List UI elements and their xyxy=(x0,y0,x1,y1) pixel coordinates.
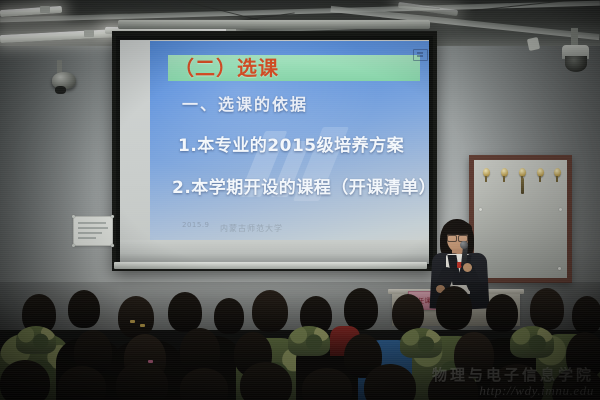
screen-surface: （二）选课 一、选课的依据 1.本专业的2015级培养方案 2.本学期开设的课程… xyxy=(120,40,429,264)
audience-head xyxy=(118,296,154,338)
hair-clip xyxy=(140,324,145,327)
slide-subtitle: 一、选课的依据 xyxy=(182,91,308,115)
audience-head xyxy=(240,362,292,400)
camouflage-cap xyxy=(288,326,330,356)
projected-slide: （二）选课 一、选课的依据 1.本专业的2015级培养方案 2.本学期开设的课程… xyxy=(150,41,429,241)
audience-head xyxy=(530,288,564,330)
audience-head xyxy=(214,298,244,334)
slide-bullet: 1.本专业的2015级培养方案 xyxy=(178,131,404,156)
camouflage-cap xyxy=(16,326,56,354)
slide-image-placeholder-icon xyxy=(413,49,428,61)
light-bracket xyxy=(40,6,50,13)
wall-notice xyxy=(73,216,113,246)
screen-unlit-area xyxy=(120,240,429,264)
glasses-icon xyxy=(447,234,468,240)
slide-bullet: 2.本学期开设的课程（开课清单） xyxy=(172,173,429,198)
audience-head xyxy=(486,294,518,332)
audience-head xyxy=(180,328,220,374)
dome-camera-lens-icon xyxy=(565,56,587,72)
camouflage-cap xyxy=(400,328,442,358)
audience-head xyxy=(436,286,472,330)
audience-head xyxy=(252,290,288,332)
presenter-hand xyxy=(463,263,472,272)
audience-head xyxy=(392,294,424,332)
camera-lens-icon xyxy=(55,86,66,94)
screen-bottom-bar xyxy=(114,262,427,269)
audience-head xyxy=(344,288,378,330)
hair-clip xyxy=(130,320,135,323)
audience-head xyxy=(572,296,600,334)
audience-head xyxy=(116,362,168,400)
audience-head xyxy=(68,290,100,328)
lecture-hall-photo: （二）选课 一、选课的依据 1.本专业的2015级培养方案 2.本学期开设的课程… xyxy=(0,0,600,400)
audience-head xyxy=(168,292,202,332)
slide-title: （二）选课 xyxy=(174,56,279,80)
camouflage-cap xyxy=(510,326,554,358)
wall-shadow-left xyxy=(0,0,120,330)
slide-date: 2015.9 xyxy=(182,221,210,229)
projector-screen-roller xyxy=(118,20,430,29)
audience xyxy=(0,282,600,400)
board-hanging-item-icon xyxy=(521,178,524,194)
presenter-hair-fringe xyxy=(443,221,472,235)
audience-head xyxy=(58,366,106,400)
audience-head xyxy=(0,360,50,400)
microphone-head-icon xyxy=(460,241,468,249)
ceiling-fixture-icon xyxy=(527,37,540,51)
slide-footer: 内蒙古师范大学 xyxy=(220,223,283,234)
light-bracket xyxy=(84,30,94,37)
projector-screen: （二）选课 一、选课的依据 1.本专业的2015级培养方案 2.本学期开设的课程… xyxy=(112,31,437,271)
